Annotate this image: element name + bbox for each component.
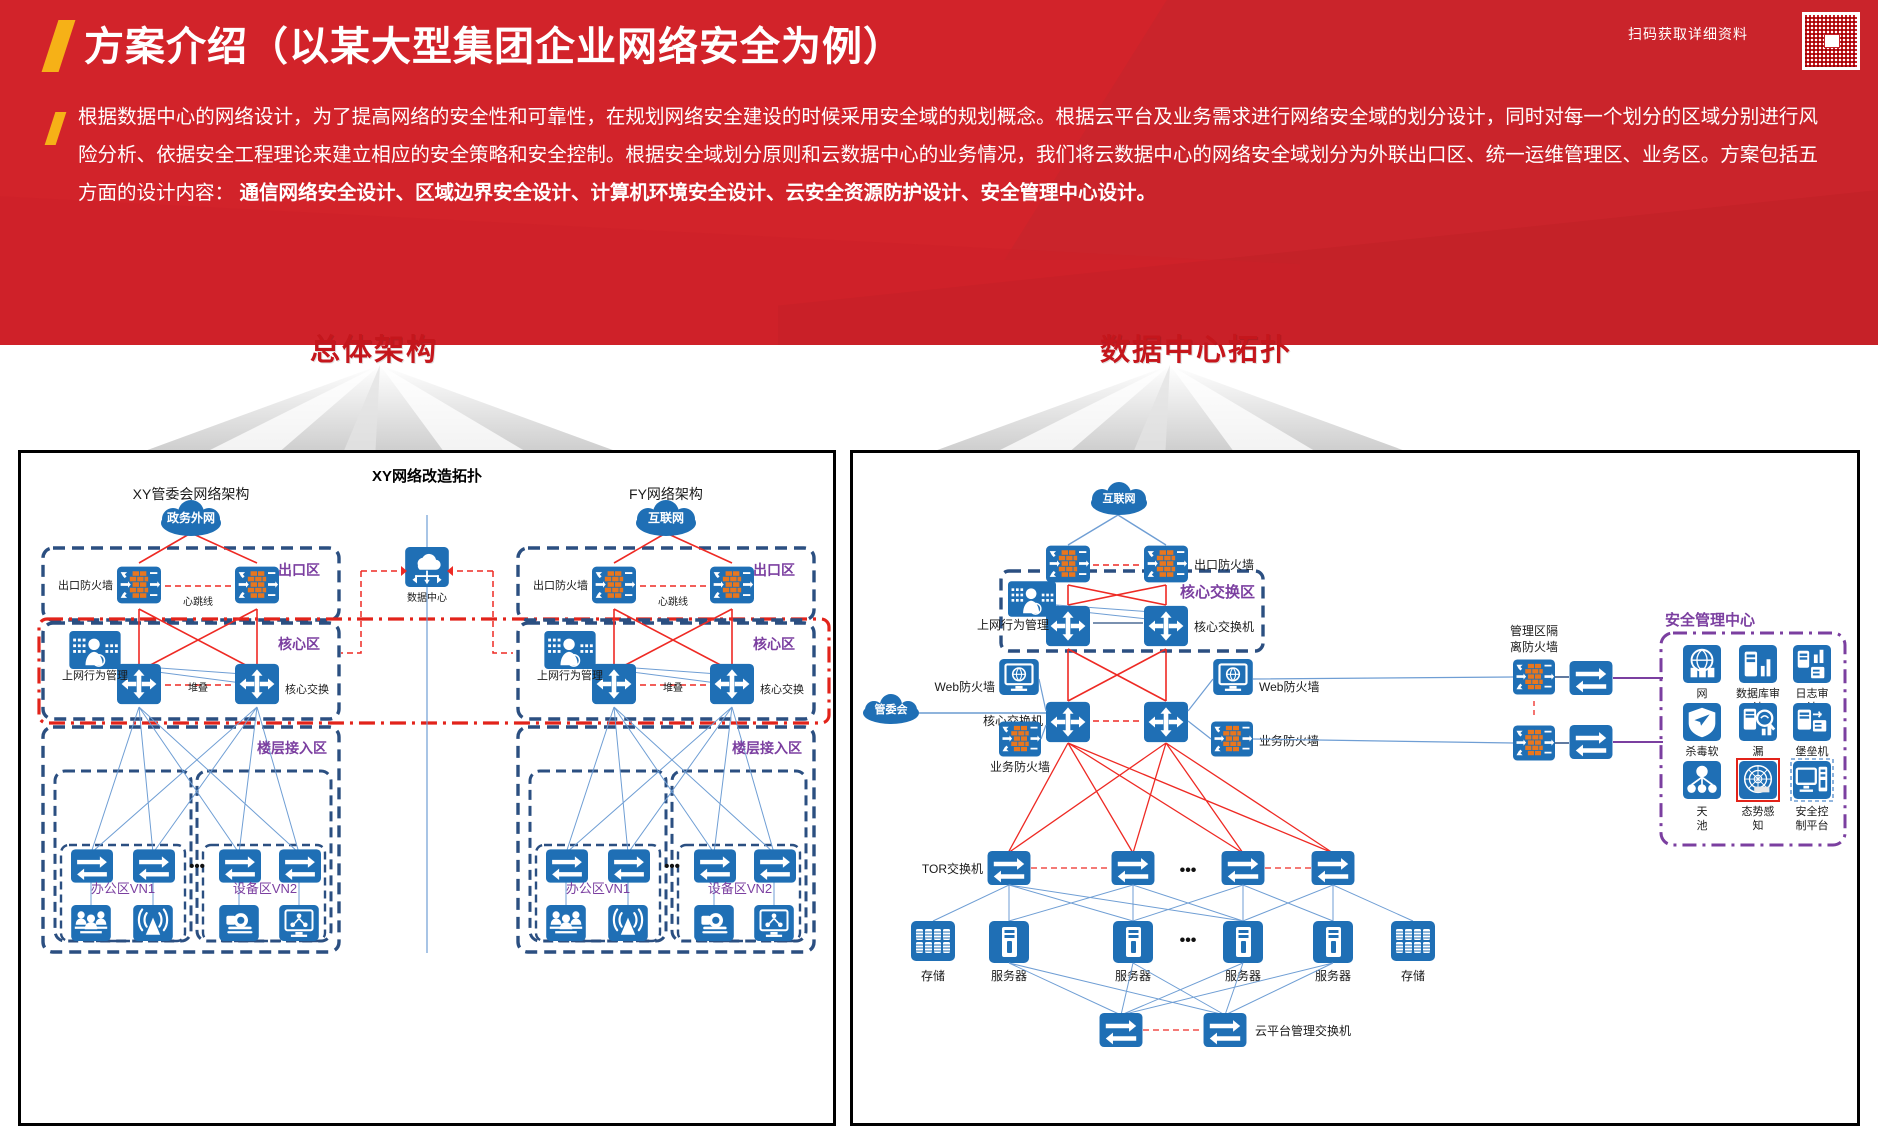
svg-text:•••: •••: [189, 858, 205, 875]
svg-text:安全控: 安全控: [1796, 804, 1829, 818]
svg-text:核心交换: 核心交换: [760, 682, 804, 696]
svg-text:出口防火墙: 出口防火墙: [533, 578, 588, 592]
svg-text:堡垒机: 堡垒机: [1796, 744, 1829, 758]
svg-text:制平台: 制平台: [1796, 818, 1829, 832]
svg-text:Web防火墙: Web防火墙: [935, 679, 995, 694]
svg-text:核心区: 核心区: [753, 636, 795, 652]
intro-paragraph: 根据数据中心的网络设计，为了提高网络的安全性和可靠性，在规划网络安全建设的时候采…: [78, 98, 1818, 212]
svg-text:互联网: 互联网: [1103, 491, 1136, 505]
section-title-overall-architecture: 总体架构: [310, 325, 438, 369]
svg-text:FY网络架构: FY网络架构: [629, 486, 703, 502]
svg-text:核心交换: 核心交换: [285, 682, 329, 696]
svg-text:业务防火墙: 业务防火墙: [990, 759, 1050, 774]
svg-text:心跳线: 心跳线: [658, 595, 688, 608]
page-header: 方案介绍（以某大型集团企业网络安全为例） 扫码获取详细资料 根据数据中心的网络设…: [0, 0, 1878, 345]
svg-text:日志审: 日志审: [1796, 686, 1829, 700]
section-title-datacenter-topology: 数据中心拓扑: [1100, 325, 1292, 369]
svg-text:存储: 存储: [1401, 968, 1425, 983]
page-title: 方案介绍（以某大型集团企业网络安全为例）: [84, 14, 904, 72]
svg-text:安全管理中心: 安全管理中心: [1665, 611, 1755, 629]
svg-text:数据中心: 数据中心: [407, 591, 447, 604]
overall-architecture-panel: XY网络改造拓扑 XY管委会网络架构 FY网络架构: [18, 450, 836, 1126]
svg-text:数据库审: 数据库审: [1736, 686, 1780, 700]
svg-text:堆叠: 堆叠: [188, 682, 208, 694]
svg-text:上网行为管理: 上网行为管理: [62, 668, 128, 682]
svg-text:管理区隔: 管理区隔: [1510, 623, 1558, 638]
svg-text:设备区VN2: 设备区VN2: [708, 881, 772, 896]
svg-text:网: 网: [1697, 688, 1708, 700]
svg-text:Web防火墙: Web防火墙: [1259, 679, 1319, 694]
svg-text:楼层接入区: 楼层接入区: [257, 740, 327, 756]
svg-text:设备区VN2: 设备区VN2: [233, 881, 297, 896]
title-accent-bar: [42, 20, 76, 72]
svg-text:出口防火墙: 出口防火墙: [58, 578, 113, 592]
svg-text:服务器: 服务器: [991, 968, 1027, 983]
paragraph-accent-bar: [45, 112, 67, 145]
svg-text:楼层接入区: 楼层接入区: [732, 740, 802, 756]
svg-text:核心交换区: 核心交换区: [1180, 583, 1255, 601]
svg-text:存储: 存储: [921, 968, 945, 983]
svg-text:核心区: 核心区: [278, 636, 320, 652]
svg-text:TOR交换机: TOR交换机: [922, 861, 983, 876]
svg-text:管委会: 管委会: [875, 702, 909, 716]
svg-text:•••: •••: [1180, 862, 1197, 879]
svg-text:离防火墙: 离防火墙: [1510, 639, 1558, 654]
right-topology-svg: 互联网 出口防火墙 核心交换区 上网行为管理 核心交换机 核心交换机 管委会 W…: [853, 453, 1857, 1123]
svg-text:互联网: 互联网: [648, 511, 684, 525]
svg-text:核心交换机: 核心交换机: [1194, 619, 1254, 634]
svg-text:知: 知: [1753, 818, 1764, 832]
svg-text:服务器: 服务器: [1225, 968, 1261, 983]
svg-text:出口区: 出口区: [278, 562, 320, 578]
svg-text:上网行为管理: 上网行为管理: [537, 668, 603, 682]
datacenter-topology-panel: 互联网 出口防火墙 核心交换区 上网行为管理 核心交换机 核心交换机 管委会 W…: [850, 450, 1860, 1126]
svg-text:出口区: 出口区: [753, 562, 795, 578]
svg-text:天: 天: [1697, 806, 1708, 818]
svg-text:办公区VN1: 办公区VN1: [91, 881, 155, 896]
svg-text:堆叠: 堆叠: [663, 682, 683, 694]
qr-code-icon[interactable]: [1802, 12, 1860, 70]
svg-text:云平台管理交换机: 云平台管理交换机: [1255, 1023, 1351, 1038]
svg-text:上网行为管理: 上网行为管理: [977, 617, 1049, 632]
svg-text:XY网络改造拓扑: XY网络改造拓扑: [372, 467, 482, 485]
left-topology-svg: XY网络改造拓扑 XY管委会网络架构 FY网络架构: [21, 453, 833, 1123]
fan-decoration-right: [910, 365, 1430, 460]
fan-decoration-left: [120, 365, 640, 460]
svg-text:•••: •••: [664, 858, 680, 875]
svg-text:服务器: 服务器: [1315, 968, 1351, 983]
svg-text:办公区VN1: 办公区VN1: [566, 881, 630, 896]
svg-text:XY管委会网络架构: XY管委会网络架构: [133, 486, 250, 502]
intro-paragraph-emphasis: 通信网络安全设计、区域边界安全设计、计算机环境安全设计、云安全资源防护设计、安全…: [239, 182, 1156, 204]
svg-text:杀毒软: 杀毒软: [1686, 744, 1719, 758]
svg-text:•••: •••: [1180, 932, 1197, 949]
svg-text:业务防火墙: 业务防火墙: [1259, 733, 1319, 748]
svg-text:出口防火墙: 出口防火墙: [1194, 557, 1254, 572]
svg-text:心跳线: 心跳线: [183, 595, 213, 608]
svg-text:漏: 漏: [1753, 745, 1764, 758]
qr-caption: 扫码获取详细资料: [1628, 24, 1748, 44]
svg-text:池: 池: [1697, 819, 1708, 832]
svg-text:态势感: 态势感: [1742, 805, 1775, 818]
svg-text:政务外网: 政务外网: [167, 510, 215, 525]
